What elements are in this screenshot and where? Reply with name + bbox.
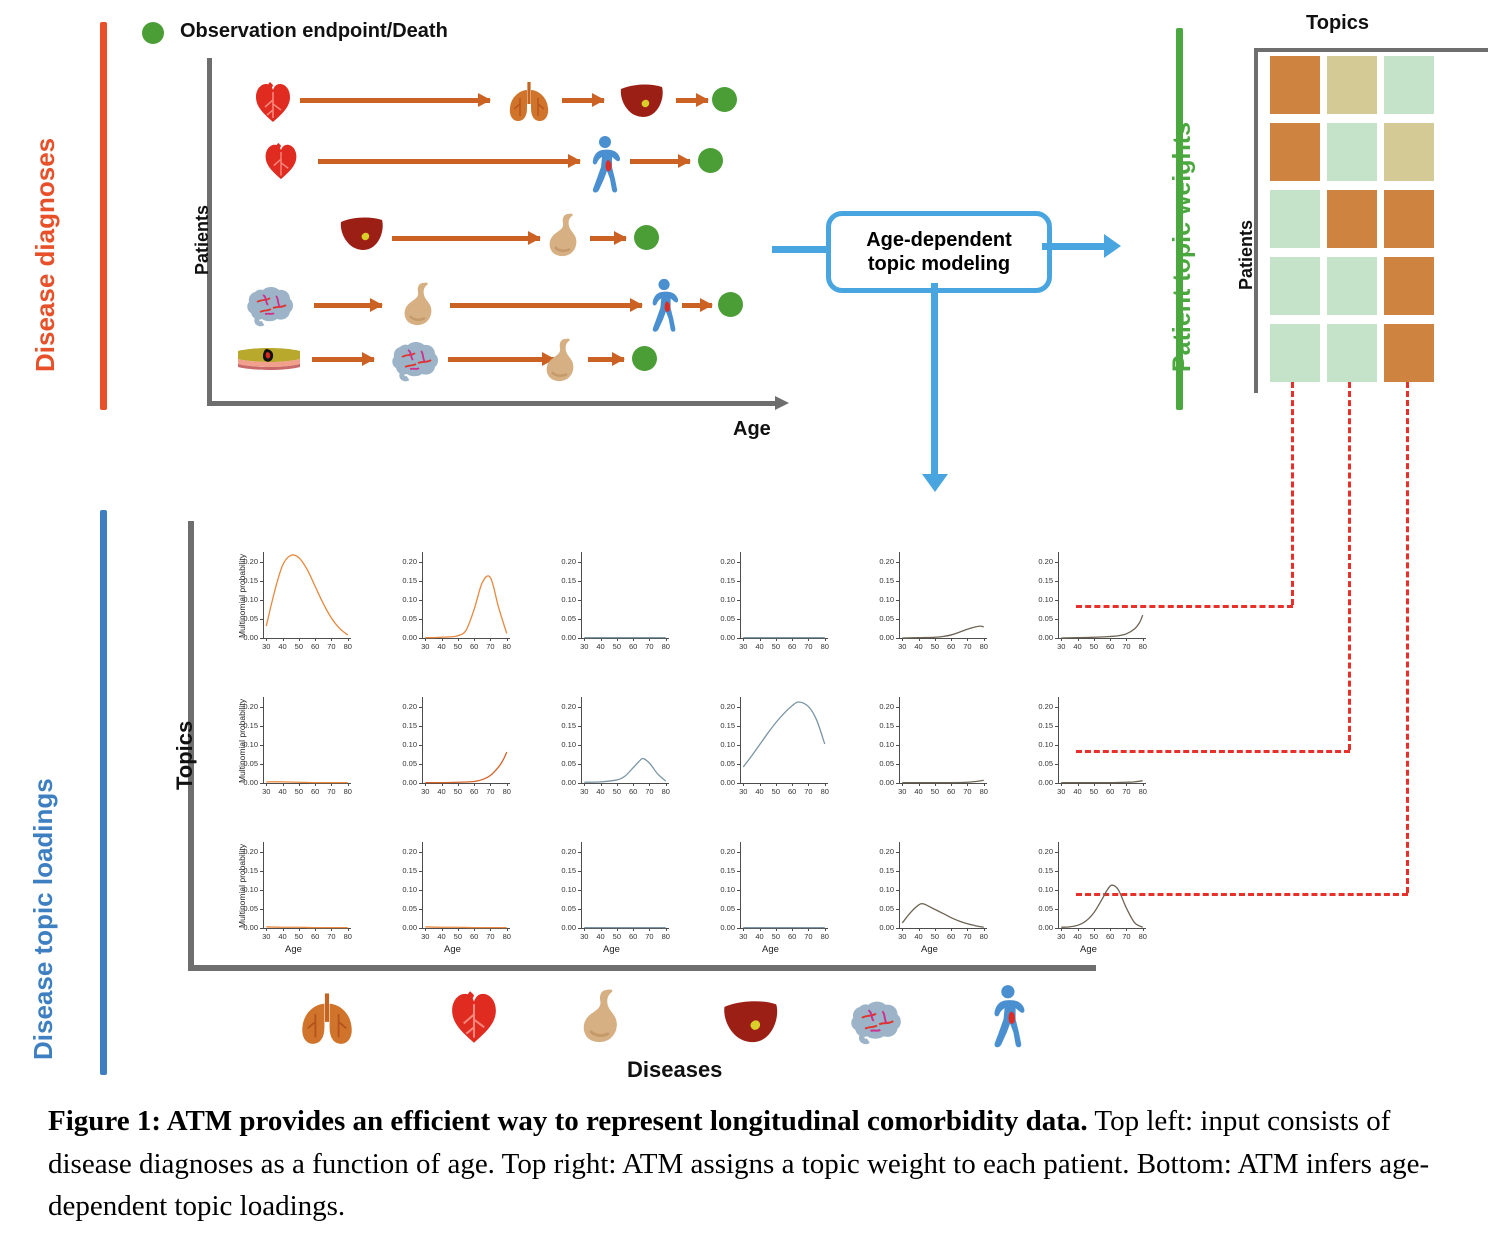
subplot-curve xyxy=(231,836,356,946)
figure-1-atm-overview: Disease diagnoses Observation endpoint/D… xyxy=(0,0,1488,1254)
hip-walking-person-icon xyxy=(988,984,1030,1050)
topic-loadings-subplot: 0.000.050.100.150.20304050607080 xyxy=(867,546,992,656)
topic-loadings-subplot: Multinomial probability0.000.050.100.150… xyxy=(231,546,356,656)
subplot-curve xyxy=(390,836,515,946)
topic-loadings-subplot: 0.000.050.100.150.20304050607080 xyxy=(708,691,833,801)
topic-loadings-subplot: Age0.000.050.100.150.20304050607080 xyxy=(1026,836,1151,946)
topic-loadings-subplot: 0.000.050.100.150.20304050607080 xyxy=(867,691,992,801)
subplot-curve xyxy=(867,836,992,946)
stomach-icon xyxy=(578,986,630,1046)
subplot-curve xyxy=(231,691,356,801)
topic-loadings-subplot: 0.000.050.100.150.20304050607080 xyxy=(549,546,674,656)
subplot-curve xyxy=(549,691,674,801)
subplot-curve xyxy=(867,691,992,801)
lungs-icon xyxy=(296,988,358,1048)
heart-icon xyxy=(447,988,501,1046)
subplot-curve xyxy=(549,836,674,946)
liver-icon xyxy=(720,998,782,1046)
subplot-curve xyxy=(390,691,515,801)
subplot-curve xyxy=(1026,691,1151,801)
topic-loadings-subplot: 0.000.050.100.150.20304050607080 xyxy=(1026,546,1151,656)
topic-loadings-subplot: Age0.000.050.100.150.20304050607080 xyxy=(549,836,674,946)
topic-loadings-subplot: 0.000.050.100.150.20304050607080 xyxy=(708,546,833,656)
subplot-curve xyxy=(1026,546,1151,656)
topic-loadings-subplot: Multinomial probability0.000.050.100.150… xyxy=(231,691,356,801)
topic-loadings-subplot: 0.000.050.100.150.20304050607080 xyxy=(390,546,515,656)
topic-loadings-subplot: 0.000.050.100.150.20304050607080 xyxy=(549,691,674,801)
subplot-curve xyxy=(708,691,833,801)
subplot-curve xyxy=(549,546,674,656)
topic-loadings-subplot: 0.000.050.100.150.20304050607080 xyxy=(390,691,515,801)
figure-caption: Figure 1: ATM provides an efficient way … xyxy=(48,1100,1444,1228)
topic-loadings-panel-grid: Multinomial probability0.000.050.100.150… xyxy=(0,0,1488,1254)
subplot-curve xyxy=(390,546,515,656)
topic-loadings-subplot: Multinomial probabilityAge0.000.050.100.… xyxy=(231,836,356,946)
subplot-curve xyxy=(231,546,356,656)
figure-caption-title: Figure 1: ATM provides an efficient way … xyxy=(48,1105,1088,1137)
topic-loadings-subplot: Age0.000.050.100.150.20304050607080 xyxy=(708,836,833,946)
subplot-curve xyxy=(708,546,833,656)
subplot-curve xyxy=(867,546,992,656)
subplot-curve xyxy=(708,836,833,946)
subplot-curve xyxy=(1026,836,1151,946)
topic-loadings-subplot: Age0.000.050.100.150.20304050607080 xyxy=(390,836,515,946)
brain-icon xyxy=(846,994,908,1046)
topic-loadings-subplot: Age0.000.050.100.150.20304050607080 xyxy=(867,836,992,946)
topic-loadings-subplot: 0.000.050.100.150.20304050607080 xyxy=(1026,691,1151,801)
